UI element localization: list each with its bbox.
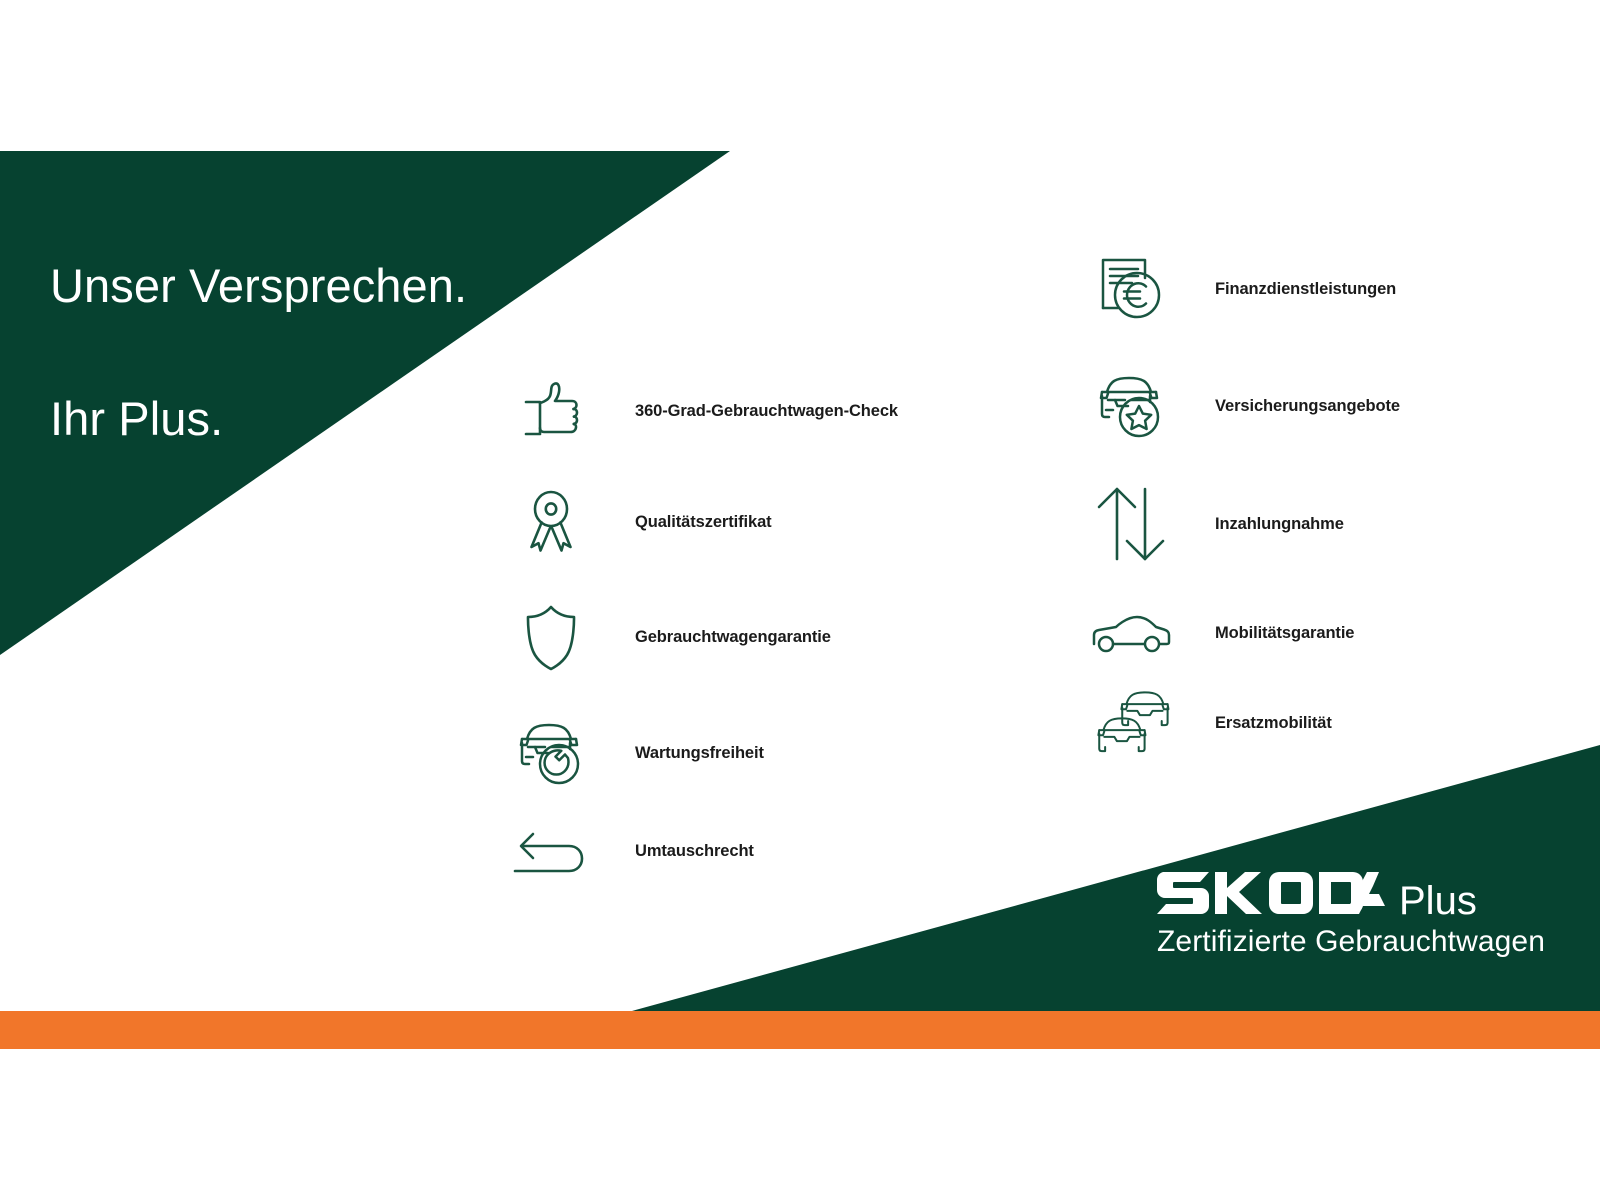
promo-banner: Unser Versprechen. Ihr Plus. 360-Grad-Ge… (0, 0, 1600, 1200)
feature-item: Umtauschrecht (505, 805, 754, 897)
feature-label: 360-Grad-Gebrauchtwagen-Check (635, 402, 898, 421)
feature-item: Inzahlungnahme (1085, 478, 1344, 570)
feature-label: Gebrauchtwagengarantie (635, 628, 831, 647)
car-star-icon (1085, 360, 1177, 452)
feature-label: Wartungsfreiheit (635, 744, 764, 763)
feature-item: Qualitätszertifikat (505, 476, 772, 568)
document-euro-icon (1085, 243, 1177, 335)
skoda-plus-logo: Plus Zertifizierte Gebrauchtwagen (1157, 872, 1545, 957)
two-cars-icon (1085, 677, 1177, 769)
logo-tagline: Zertifizierte Gebrauchtwagen (1157, 927, 1545, 957)
feature-label: Mobilitätsgarantie (1215, 624, 1354, 643)
return-arrow-icon (505, 805, 597, 897)
headline-line-2: Ihr Plus. (50, 386, 467, 453)
quality-rosette-icon (505, 476, 597, 568)
feature-item: Ersatzmobilität (1085, 677, 1332, 769)
logo-wordmark-row: Plus (1157, 872, 1545, 916)
feature-item: 360-Grad-Gebrauchtwagen-Check (505, 365, 898, 457)
headline-line-1: Unser Versprechen. (50, 253, 467, 320)
thumbs-up-icon (505, 365, 597, 457)
orange-accent-bar (0, 1011, 1600, 1049)
car-side-icon (1085, 587, 1177, 679)
feature-label: Versicherungsangebote (1215, 397, 1400, 416)
feature-label: Finanzdienstleistungen (1215, 280, 1396, 299)
feature-label: Umtauschrecht (635, 842, 754, 861)
feature-label: Ersatzmobilität (1215, 714, 1332, 733)
feature-item: Mobilitätsgarantie (1085, 587, 1354, 679)
car-wrench-icon (505, 707, 597, 799)
logo-plus-label: Plus (1399, 881, 1477, 921)
feature-label: Inzahlungnahme (1215, 515, 1344, 534)
headline: Unser Versprechen. Ihr Plus. (50, 186, 467, 520)
feature-item: Wartungsfreiheit (505, 707, 764, 799)
up-down-arrows-icon (1085, 478, 1177, 570)
shield-icon (505, 591, 597, 683)
skoda-wordmark-icon (1157, 872, 1385, 914)
feature-item: Finanzdienstleistungen (1085, 243, 1396, 335)
feature-label: Qualitätszertifikat (635, 513, 772, 532)
feature-item: Gebrauchtwagengarantie (505, 591, 831, 683)
feature-item: Versicherungsangebote (1085, 360, 1400, 452)
